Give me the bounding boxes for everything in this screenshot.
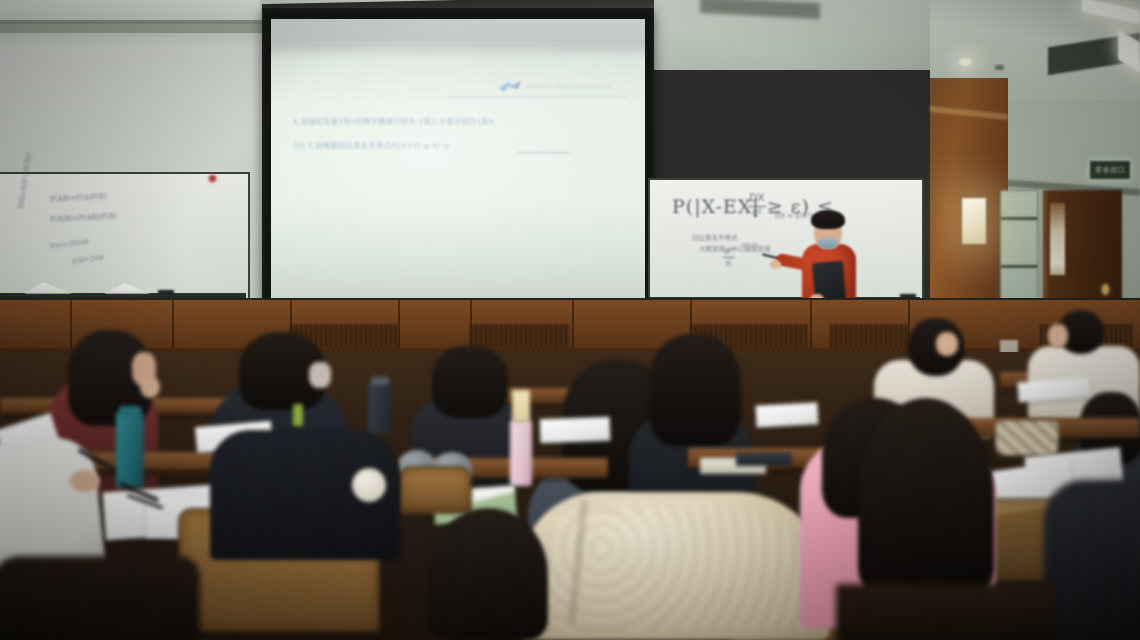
water-bottle-pink[interactable] (510, 420, 532, 486)
logo-mark-icon (499, 81, 521, 92)
wall-sconce-light-icon (960, 196, 988, 246)
chair-back[interactable] (398, 466, 472, 514)
student-face (1048, 324, 1068, 348)
student-hair (649, 334, 741, 446)
fraction-denominator: ε² (748, 208, 766, 220)
student-hair (858, 398, 994, 594)
panel-seam (70, 300, 72, 352)
whiteboard-left (0, 172, 250, 300)
fraction2-denominator: n (723, 259, 734, 268)
whiteboard-marker-icon[interactable] (158, 290, 174, 294)
whiteboard-note-3: σ²/√n (742, 242, 758, 249)
thermos-dark-cap (371, 377, 389, 385)
student-hair (432, 346, 508, 418)
notebook-stack[interactable] (755, 402, 818, 427)
whiteboard-note-2: 大数定律 / 中心极限定理 (699, 243, 770, 253)
lanyard-icon (293, 404, 303, 426)
ceiling-slab (0, 0, 260, 22)
notebook-stack[interactable] (540, 417, 611, 443)
panel-seam (572, 300, 574, 352)
student-hair (428, 508, 548, 640)
fraction2-numerator: σ² (723, 247, 734, 256)
sprinkler-head-icon (995, 65, 1004, 70)
door-handle-icon[interactable] (1102, 284, 1109, 295)
downlight (958, 57, 973, 67)
student-hand (936, 332, 958, 356)
student-hand (140, 376, 160, 398)
whiteboard-magnet-icon[interactable] (209, 175, 216, 182)
projection-screen-frame: UNIVERSITY COURSE PRESENTATION 4.设随机变量X和… (262, 8, 654, 326)
exit-sign: 安全出口 (1088, 159, 1132, 181)
foreground-shadow-right (836, 584, 1056, 640)
water-bottle-pink-cap (512, 390, 530, 422)
slide-answer-blank (517, 152, 569, 153)
slide-text-line-2: 为0.5,则根据切比雪夫不等式P(|X+Y| ≥ 6) ≤ (293, 141, 450, 151)
stage-wood-paneling (0, 300, 1140, 352)
presentation-slide: UNIVERSITY COURSE PRESENTATION 4.设随机变量X和… (277, 71, 639, 293)
student-glove (352, 468, 386, 502)
panel-seam (398, 300, 400, 352)
slide-logo: UNIVERSITY COURSE PRESENTATION (499, 81, 611, 92)
handbag-patterned[interactable] (995, 420, 1059, 456)
student-face-mask (309, 362, 331, 388)
lecture-hall-photo: 安全出口 UNIVERSITY COURSE PRESENTATION 4.设随… (0, 0, 1140, 640)
wall-top-center (0, 33, 268, 51)
student-foreground-far-right (1044, 480, 1140, 640)
exit-sign-text: 安全出口 (1095, 167, 1125, 174)
fraction-numerator: DX (748, 193, 766, 205)
water-bottle-teal[interactable] (116, 412, 144, 488)
projection-screen-surface: UNIVERSITY COURSE PRESENTATION 4.设随机变量X和… (271, 19, 645, 309)
whiteboard-formula-fraction-2: σ² n (723, 247, 734, 268)
student-hand (70, 470, 100, 492)
panel-seam (172, 300, 174, 352)
instructor-face-mask (818, 238, 838, 249)
slide-logo-text: UNIVERSITY COURSE PRESENTATION (525, 84, 611, 89)
instructor-glasses-icon (815, 226, 841, 232)
notebook-dark[interactable] (736, 452, 792, 466)
door-window (1049, 202, 1066, 276)
thermos-dark[interactable] (368, 382, 392, 434)
whiteboard-formula-fraction: DX ε² (748, 193, 766, 219)
slide-header-rule (447, 96, 627, 97)
foreground-shadow-left (0, 556, 200, 640)
wall-panel-glass (1000, 190, 1038, 310)
slide-text-line-1: 4.设随机变量X和Y的数学期望分别为-2和2,方差分别为1和4, (293, 117, 497, 127)
wall-upper-band (0, 24, 268, 33)
panel-seam (810, 300, 812, 352)
whiteboard-note-1: 切比雪夫不等式 (692, 232, 738, 242)
instructor-hand (770, 260, 781, 269)
water-bottle-teal-cap (119, 406, 141, 416)
